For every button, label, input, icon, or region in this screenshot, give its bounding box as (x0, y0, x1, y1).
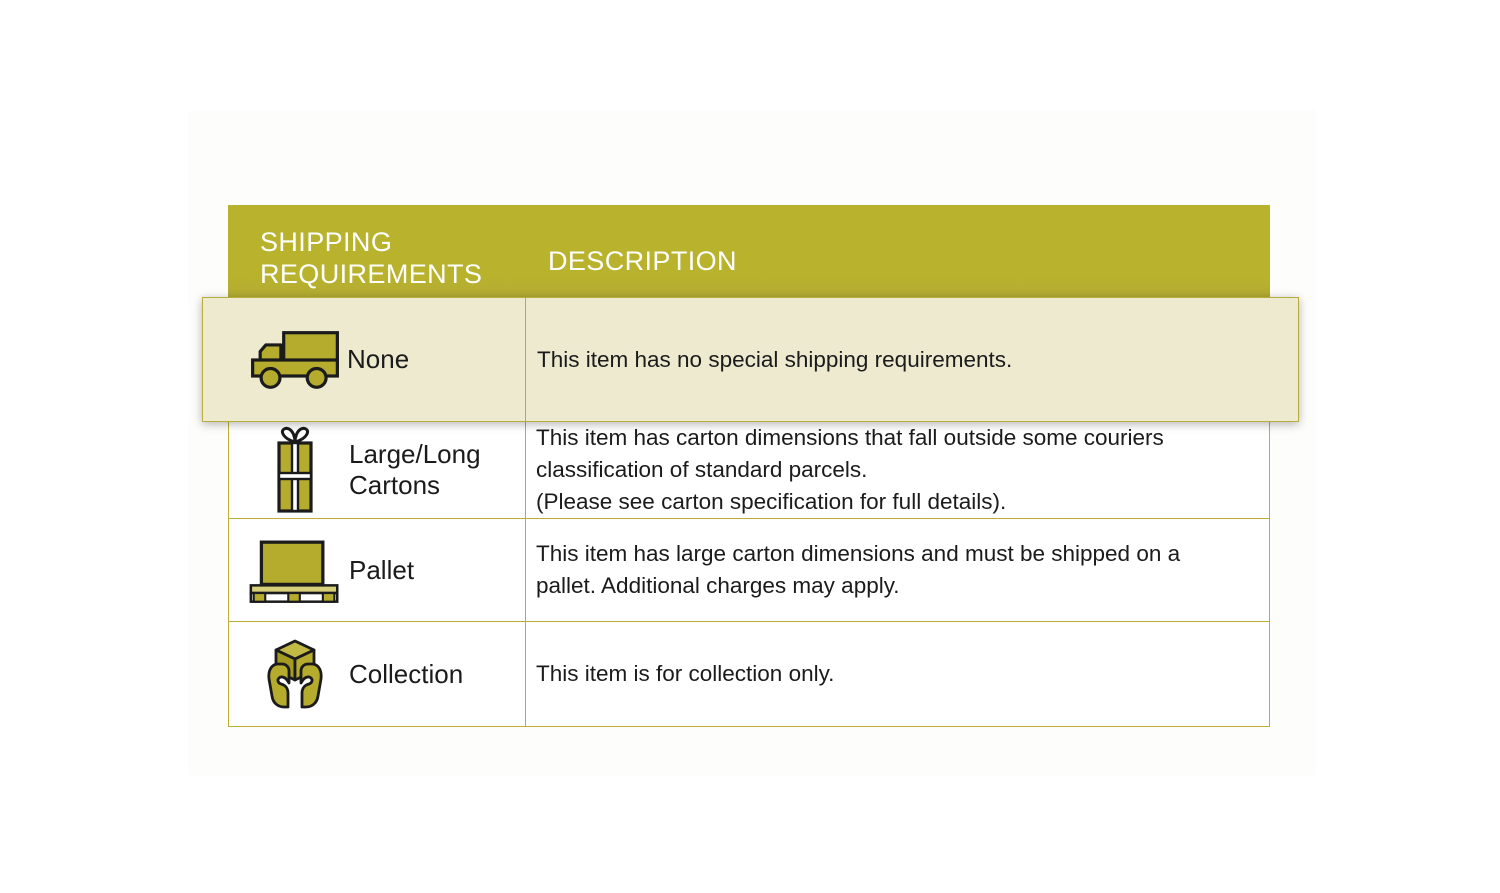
row-description-cell: This item has large carton dimensions an… (526, 519, 1269, 621)
row-description-cell: This item has carton dimensions that fal… (526, 422, 1269, 518)
table-row[interactable]: Pallet This item has large carton dimens… (229, 519, 1269, 622)
table-row[interactable]: Large/Long Cartons This item has carton … (229, 422, 1269, 519)
row-label-cell: None (203, 298, 526, 421)
table-row[interactable]: Collection This item is for collection o… (229, 622, 1269, 726)
row-description: This item has carton dimensions that fal… (536, 422, 1164, 518)
hands-holding-box-icon (247, 638, 343, 710)
row-label-cell: Pallet (229, 519, 526, 621)
pallet-box-icon (247, 535, 343, 605)
tall-gift-carton-icon (247, 426, 343, 514)
table-header-band: SHIPPING REQUIREMENTS DESCRIPTION (228, 205, 1270, 297)
row-label: Pallet (349, 555, 414, 586)
row-description-cell: This item has no special shipping requir… (526, 298, 1298, 421)
column-header-shipping-requirements: SHIPPING REQUIREMENTS (260, 227, 520, 291)
row-label: Large/Long Cartons (349, 439, 481, 500)
row-description: This item has large carton dimensions an… (536, 538, 1180, 602)
row-description: This item has no special shipping requir… (537, 344, 1012, 376)
table-row-highlighted-none[interactable]: None This item has no special shipping r… (202, 297, 1299, 422)
row-description-cell: This item is for collection only. (526, 622, 1269, 726)
row-label-cell: Collection (229, 622, 526, 726)
row-label: Collection (349, 659, 463, 690)
row-label-cell: Large/Long Cartons (229, 422, 526, 518)
delivery-truck-icon (247, 327, 343, 393)
row-label: None (347, 344, 409, 375)
column-header-description: DESCRIPTION (548, 246, 948, 278)
shipping-requirements-table-page: SHIPPING REQUIREMENTS DESCRIPTION (0, 0, 1500, 893)
row-description: This item is for collection only. (536, 658, 834, 690)
